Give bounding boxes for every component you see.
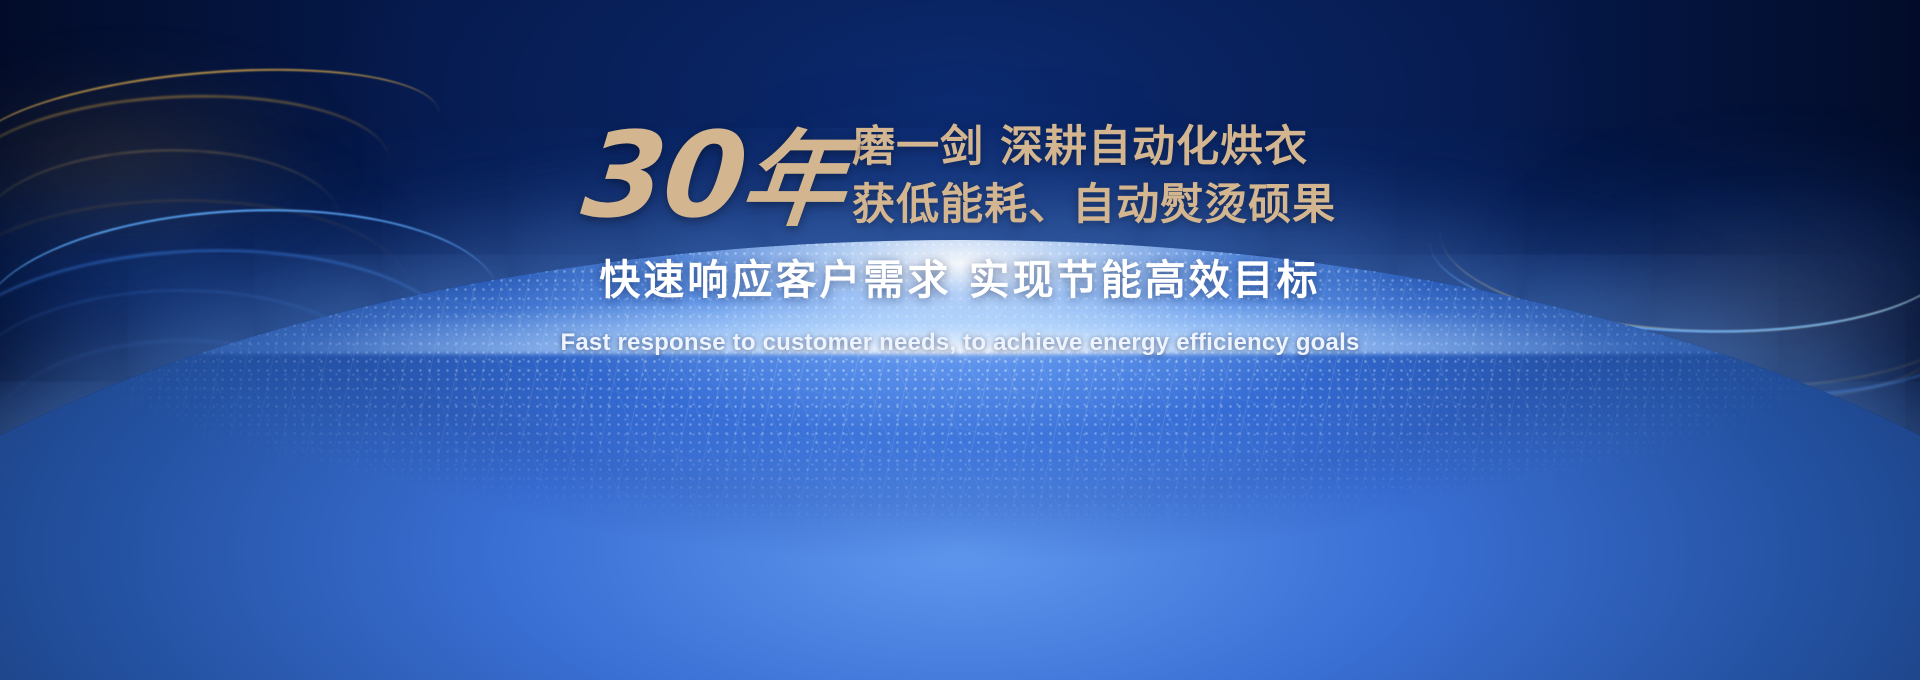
subheadline-chinese: 快速响应客户需求 实现节能高效目标: [0, 258, 1920, 303]
gold-slogan-block: 磨一剑 深耕自动化烘衣 获低能耗、自动熨烫硕果: [852, 126, 1336, 228]
promo-banner: 30年 磨一剑 深耕自动化烘衣 获低能耗、自动熨烫硕果 快速响应客户需求 实现节…: [0, 0, 1920, 680]
banner-content: 30年 磨一剑 深耕自动化烘衣 获低能耗、自动熨烫硕果 快速响应客户需求 实现节…: [0, 104, 1920, 357]
years-unit-label: 年: [735, 119, 852, 241]
years-number: 30年: [578, 118, 852, 234]
headline-block: 30年 磨一剑 深耕自动化烘衣 获低能耗、自动熨烫硕果: [0, 104, 1920, 234]
gold-slogan-line-2: 获低能耗、自动熨烫硕果: [852, 184, 1336, 228]
subheadline-english: Fast response to customer needs, to achi…: [0, 329, 1920, 357]
gold-slogan-line-1: 磨一剑 深耕自动化烘衣: [852, 126, 1336, 170]
years-number-value: 30: [577, 106, 752, 244]
